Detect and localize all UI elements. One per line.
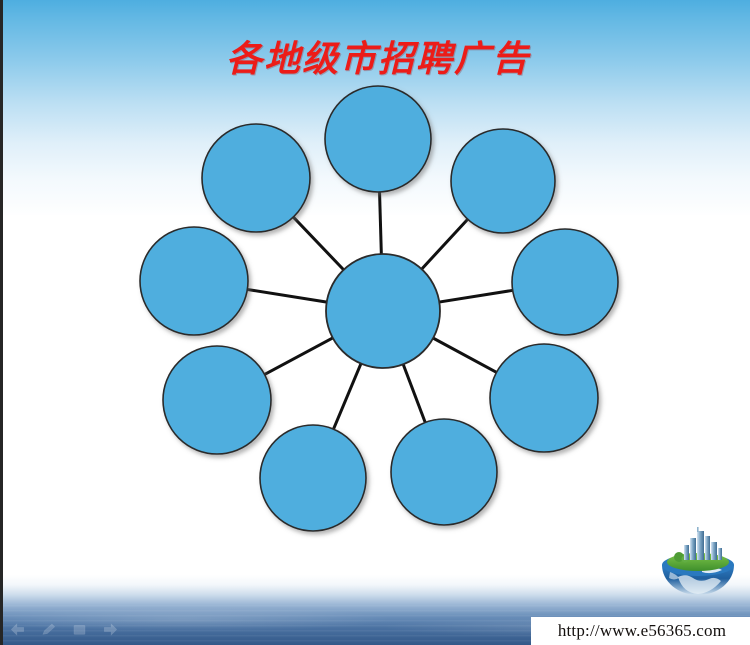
satellite-node-1[interactable] [325,86,431,192]
satellite-circle[interactable] [325,86,431,192]
connector-line [438,290,513,302]
satellite-node-8[interactable] [140,227,248,335]
slide-canvas: 各地级市招聘广告 [0,0,750,645]
center-circle[interactable] [326,254,440,368]
satellite-node-9[interactable] [202,124,310,232]
connector-line [403,363,426,423]
satellite-circle[interactable] [451,129,555,233]
connector-line [333,363,361,430]
pencil-icon[interactable] [40,622,57,637]
square-icon[interactable] [71,622,88,637]
satellite-circle[interactable] [202,124,310,232]
center-node [326,254,440,368]
satellite-circle[interactable] [260,425,366,531]
connector-line [293,216,345,270]
satellite-node-2[interactable] [451,129,555,233]
hub-and-spoke-diagram [3,0,750,645]
center-node-group[interactable] [326,254,440,368]
connector-line [246,289,327,302]
satellite-node-5[interactable] [391,419,497,525]
connector-line [432,338,497,373]
connector-line [264,337,334,374]
back-arrow-icon[interactable] [9,622,26,637]
satellite-node-4[interactable] [490,344,598,452]
satellite-node-7[interactable] [163,346,271,454]
watermark-url-text: http://www.e56365.com [558,621,726,641]
satellite-circle[interactable] [391,419,497,525]
satellite-circle[interactable] [512,229,618,335]
slideshow-nav-icons[interactable] [9,622,119,637]
satellite-node-3[interactable] [512,229,618,335]
satellite-circle[interactable] [490,344,598,452]
watermark-url-bar: http://www.e56365.com [531,617,750,645]
connector-line [380,191,382,255]
satellite-node-6[interactable] [260,425,366,531]
forward-arrow-icon[interactable] [102,622,119,637]
satellite-circle[interactable] [140,227,248,335]
globe-city-logo [648,525,748,611]
satellite-circle[interactable] [163,346,271,454]
connector-line [421,218,468,269]
